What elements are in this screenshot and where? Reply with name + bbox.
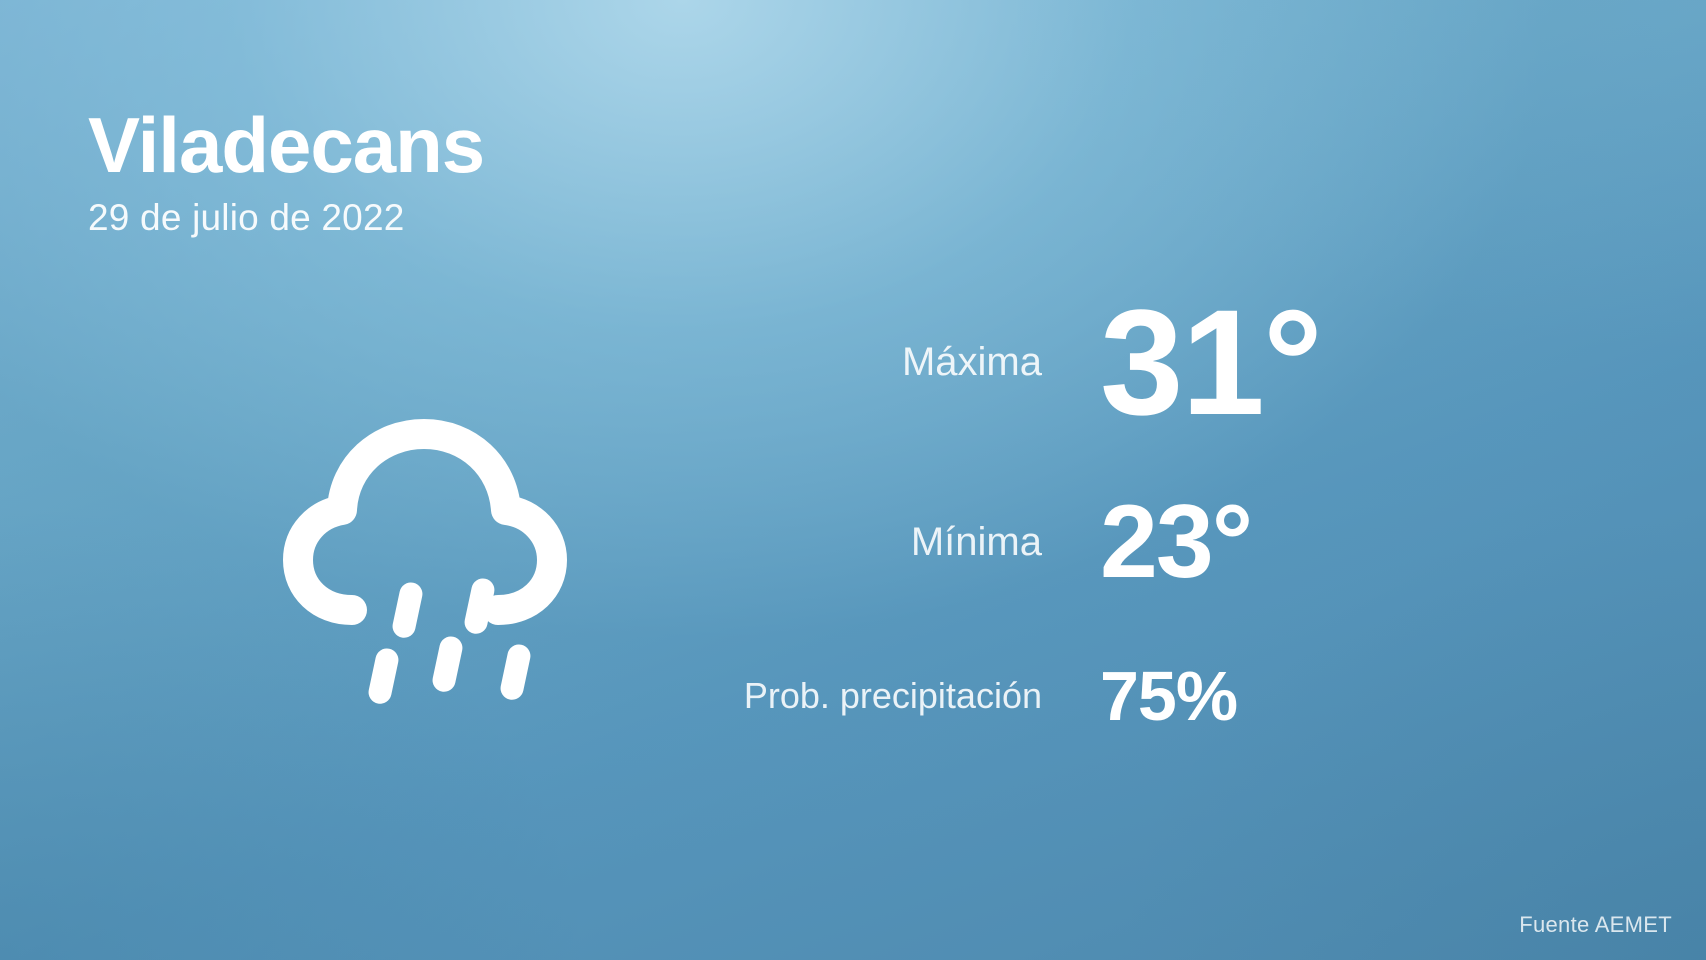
reading-value-maxima: 31° — [1100, 287, 1400, 437]
rain-drop — [430, 634, 464, 694]
cloud-outline — [298, 434, 552, 610]
source-attribution: Fuente AEMET — [1519, 912, 1672, 938]
reading-label-maxima: Máxima — [902, 340, 1100, 385]
header-block: Viladecans 29 de julio de 2022 — [88, 108, 484, 236]
page-title: Viladecans — [88, 108, 484, 183]
reading-value-precipitation: 75% — [1100, 661, 1400, 731]
reading-row-minima: Mínima 23° — [600, 448, 1400, 636]
readings-list: Máxima 31° Mínima 23° Prob. precipitació… — [600, 276, 1400, 756]
reading-label-minima: Mínima — [911, 520, 1100, 565]
reading-label-precipitation: Prob. precipitación — [744, 675, 1100, 717]
rain-drop — [390, 580, 424, 640]
weather-forecast-card: Viladecans 29 de julio de 2022 Máxima 31… — [0, 0, 1706, 960]
rain-drop — [498, 642, 532, 702]
reading-row-precipitation: Prob. precipitación 75% — [600, 636, 1400, 756]
reading-row-maxima: Máxima 31° — [600, 276, 1400, 448]
reading-value-minima: 23° — [1100, 490, 1400, 594]
rain-drop — [366, 646, 400, 706]
forecast-date: 29 de julio de 2022 — [88, 199, 484, 236]
cloud-rain-icon — [272, 382, 602, 712]
